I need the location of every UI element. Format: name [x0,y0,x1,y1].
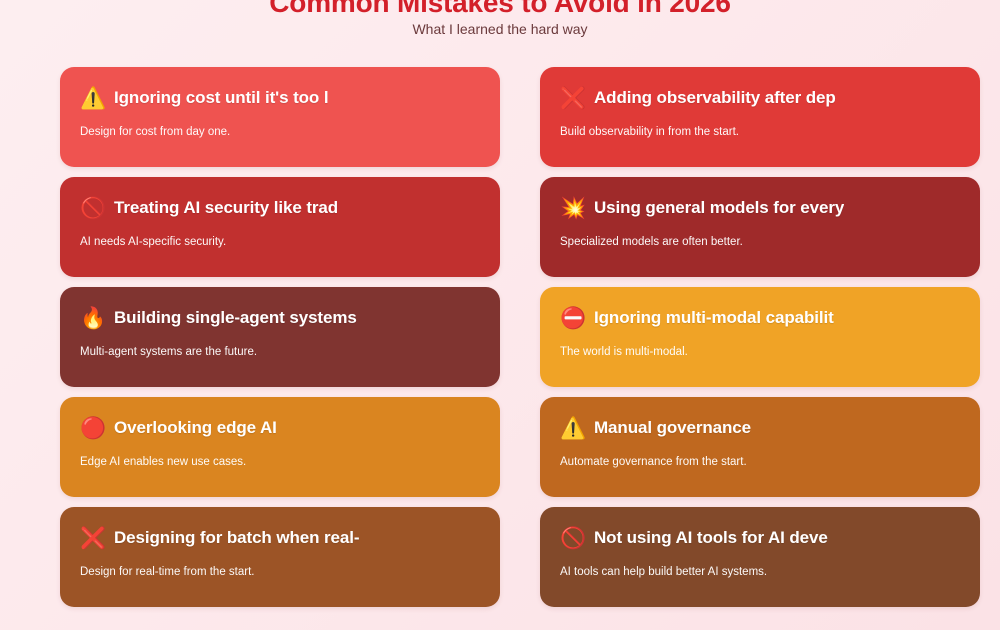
mistake-card-description: Design for cost from day one. [80,126,480,138]
mistake-card-description: Design for real-time from the start. [80,566,480,578]
mistake-card-head: 🚫Not using AI tools for AI deve [560,523,960,553]
mistake-card[interactable]: 🚫Treating AI security like tradAI needs … [60,177,500,277]
mistake-card-description: AI tools can help build better AI system… [560,566,960,578]
mistake-card[interactable]: 🚫Not using AI tools for AI deveAI tools … [540,507,980,607]
mistake-card-description: Edge AI enables new use cases. [80,456,480,468]
prohibited-icon: 🚫 [560,528,585,549]
mistake-card[interactable]: ⛔Ignoring multi-modal capabilitThe world… [540,287,980,387]
mistake-card[interactable]: 🔴Overlooking edge AIEdge AI enables new … [60,397,500,497]
mistake-card[interactable]: 🔥Building single-agent systemsMulti-agen… [60,287,500,387]
mistake-card[interactable]: ⚠️Manual governanceAutomate governance f… [540,397,980,497]
mistake-card-description: Specialized models are often better. [560,236,960,248]
mistake-card-description: The world is multi-modal. [560,346,960,358]
page-subtitle: What I learned the hard way [60,21,940,37]
mistake-card-title: Designing for batch when real- [114,528,359,548]
page-title: Common Mistakes to Avoid in 2026 [60,0,940,17]
mistake-card-head: ❌Adding observability after dep [560,83,960,113]
mistake-card-head: 🔥Building single-agent systems [80,303,480,333]
mistake-card-description: Automate governance from the start. [560,456,960,468]
mistake-card-head: ❌Designing for batch when real- [80,523,480,553]
mistake-card-title: Ignoring cost until it's too l [114,88,328,108]
prohibited-icon: 🚫 [80,198,105,219]
mistake-card-title: Manual governance [594,418,751,438]
mistake-card[interactable]: ⚠️Ignoring cost until it's too lDesign f… [60,67,500,167]
red-circle-icon: 🔴 [80,418,105,439]
mistake-card-title: Not using AI tools for AI deve [594,528,828,548]
mistake-card-head: 🔴Overlooking edge AI [80,413,480,443]
fire-icon: 🔥 [80,308,105,329]
mistake-card-title: Building single-agent systems [114,308,357,328]
mistake-card-title: Ignoring multi-modal capabilit [594,308,834,328]
mistake-card-description: Multi-agent systems are the future. [80,346,480,358]
cross-mark-icon: ❌ [560,88,585,109]
mistake-card-head: ⚠️Ignoring cost until it's too l [80,83,480,113]
mistake-card-head: ⚠️Manual governance [560,413,960,443]
mistake-card-title: Using general models for every [594,198,844,218]
slide-root: Common Mistakes to Avoid in 2026 What I … [0,0,1000,630]
mistake-card[interactable]: ❌Designing for batch when real-Design fo… [60,507,500,607]
mistake-card[interactable]: ❌Adding observability after depBuild obs… [540,67,980,167]
mistake-card[interactable]: 💥Using general models for everySpecializ… [540,177,980,277]
mistake-card-head: 🚫Treating AI security like trad [80,193,480,223]
mistake-card-grid: ⚠️Ignoring cost until it's too lDesign f… [60,67,940,607]
mistake-card-description: Build observability in from the start. [560,126,960,138]
warning-triangle-icon: ⚠️ [560,418,585,439]
mistake-card-head: 💥Using general models for every [560,193,960,223]
no-entry-icon: ⛔ [560,308,585,329]
slide-header: Common Mistakes to Avoid in 2026 What I … [60,0,940,45]
warning-triangle-icon: ⚠️ [80,88,105,109]
collision-burst-icon: 💥 [560,198,585,219]
mistake-card-title: Overlooking edge AI [114,418,277,438]
mistake-card-description: AI needs AI-specific security. [80,236,480,248]
mistake-card-head: ⛔Ignoring multi-modal capabilit [560,303,960,333]
mistake-card-title: Treating AI security like trad [114,198,338,218]
mistake-card-title: Adding observability after dep [594,88,836,108]
cross-mark-icon: ❌ [80,528,105,549]
